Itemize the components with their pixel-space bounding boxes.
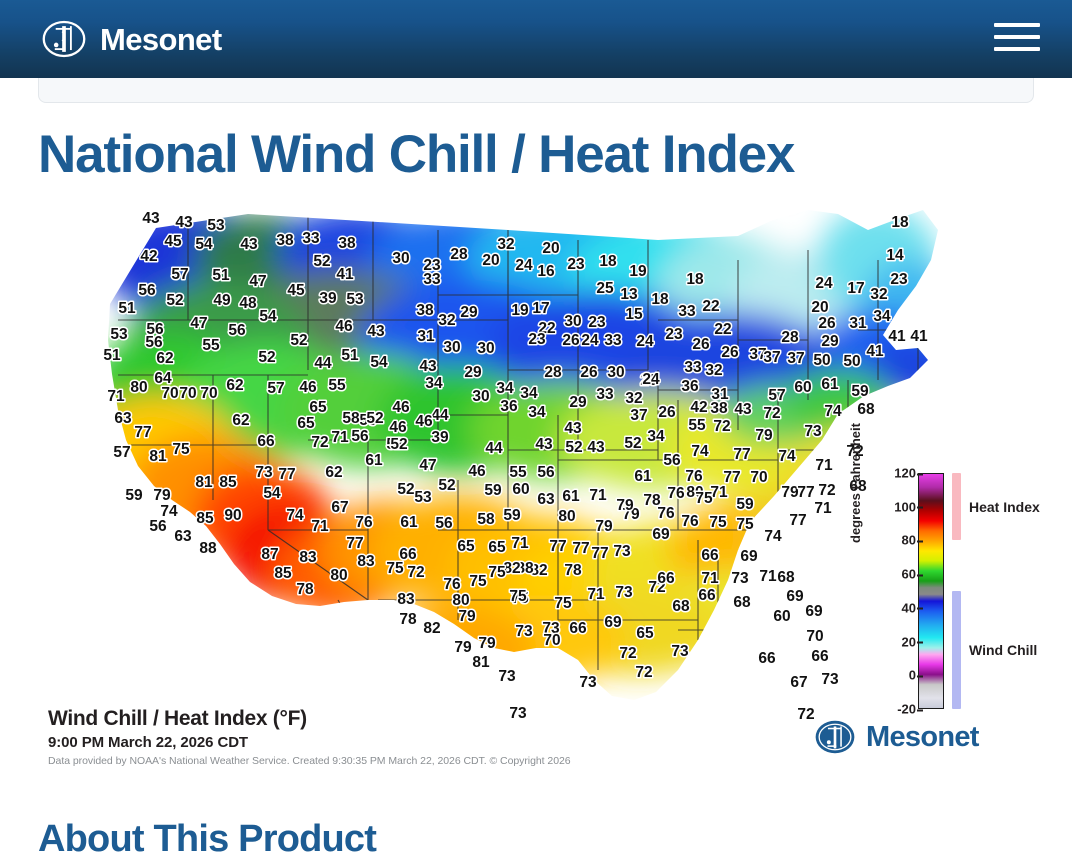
station-value: 62 bbox=[325, 464, 342, 481]
station-value: 24 bbox=[581, 332, 599, 349]
station-value: 23 bbox=[588, 314, 606, 331]
station-value: 79 bbox=[458, 608, 476, 625]
station-value: 30 bbox=[607, 364, 624, 381]
station-value: 37 bbox=[787, 350, 804, 367]
station-value: 74 bbox=[691, 443, 709, 460]
station-value: 69 bbox=[786, 588, 804, 605]
station-value: 46 bbox=[335, 318, 353, 335]
station-value: 41 bbox=[866, 343, 884, 360]
station-value: 54 bbox=[195, 236, 213, 253]
station-value: 33 bbox=[684, 359, 702, 376]
brand-logo[interactable]: Mesonet bbox=[41, 16, 222, 62]
station-value: 72 bbox=[635, 664, 652, 681]
station-value: 15 bbox=[625, 306, 643, 323]
station-value: 73 bbox=[515, 623, 533, 640]
station-value: 24 bbox=[642, 371, 660, 388]
station-value: 63 bbox=[174, 528, 192, 545]
range-bar-wind-chill bbox=[952, 591, 961, 709]
station-value: 18 bbox=[891, 214, 909, 231]
legend-axis-label: degrees Fahrenheit bbox=[848, 423, 863, 543]
station-value: 77 bbox=[346, 535, 363, 552]
station-value: 73 bbox=[498, 668, 516, 685]
station-value: 33 bbox=[423, 271, 441, 288]
station-value: 34 bbox=[425, 375, 443, 392]
station-value: 75 bbox=[695, 490, 713, 507]
station-value: 43 bbox=[419, 358, 437, 375]
site-header: Mesonet bbox=[0, 0, 1072, 78]
station-value: 37 bbox=[763, 349, 780, 366]
wind-chill-heat-index-map[interactable]: 4343534554433833384252413023283320322416… bbox=[38, 200, 1038, 780]
station-value: 36 bbox=[500, 398, 518, 415]
station-value: 52 bbox=[313, 253, 330, 270]
station-value: 56 bbox=[138, 282, 156, 299]
station-value: 58 bbox=[342, 410, 360, 427]
station-value: 75 bbox=[554, 595, 572, 612]
station-value: 66 bbox=[758, 650, 776, 667]
station-value: 65 bbox=[636, 625, 654, 642]
station-value: 29 bbox=[569, 394, 587, 411]
station-value: 70 bbox=[179, 385, 196, 402]
station-value: 75 bbox=[172, 441, 190, 458]
station-value: 81 bbox=[149, 448, 167, 465]
station-value: 90 bbox=[224, 507, 241, 524]
caption-credit: Data provided by NOAA's National Weather… bbox=[48, 755, 688, 767]
station-value: 52 bbox=[390, 436, 407, 453]
station-value: 80 bbox=[558, 508, 575, 525]
watermark-text: Mesonet bbox=[866, 723, 979, 752]
station-value: 19 bbox=[511, 302, 529, 319]
station-value: 71 bbox=[710, 484, 728, 501]
station-value: 88 bbox=[199, 540, 217, 557]
station-value: 71 bbox=[511, 535, 529, 552]
station-value: 76 bbox=[355, 514, 373, 531]
legend-tick-120: 120 bbox=[866, 466, 916, 481]
station-value: 52 bbox=[166, 292, 183, 309]
station-value: 76 bbox=[685, 468, 703, 485]
station-value: 85 bbox=[274, 565, 292, 582]
station-value: 46 bbox=[299, 379, 317, 396]
station-value: 71 bbox=[589, 487, 607, 504]
station-value: 73 bbox=[613, 543, 631, 560]
station-value: 73 bbox=[671, 643, 689, 660]
range-label-heat-index: Heat Index bbox=[969, 499, 1040, 515]
station-value: 34 bbox=[647, 428, 665, 445]
station-value: 83 bbox=[397, 591, 415, 608]
station-value: 69 bbox=[805, 603, 823, 620]
station-value: 43 bbox=[734, 401, 752, 418]
station-value: 77 bbox=[134, 424, 151, 441]
station-value: 46 bbox=[415, 413, 433, 430]
station-value: 77 bbox=[278, 466, 295, 483]
station-value: 24 bbox=[636, 333, 654, 350]
station-value: 72 bbox=[407, 564, 424, 581]
station-value: 77 bbox=[797, 484, 814, 501]
station-value: 74 bbox=[286, 507, 304, 524]
station-value: 31 bbox=[849, 315, 867, 332]
station-value: 34 bbox=[520, 385, 538, 402]
station-value: 79 bbox=[781, 484, 799, 501]
station-value: 55 bbox=[328, 377, 346, 394]
station-value: 28 bbox=[450, 246, 468, 263]
map-caption: Wind Chill / Heat Index (°F) 9:00 PM Mar… bbox=[48, 706, 688, 767]
station-value: 70 bbox=[543, 632, 560, 649]
station-value: 67 bbox=[331, 499, 348, 516]
station-value: 71 bbox=[814, 500, 832, 517]
station-value: 31 bbox=[417, 328, 435, 345]
station-value: 25 bbox=[596, 280, 614, 297]
station-value: 33 bbox=[678, 303, 696, 320]
range-label-wind-chill: Wind Chill bbox=[969, 642, 1037, 658]
station-value: 20 bbox=[811, 299, 828, 316]
station-value: 59 bbox=[484, 482, 502, 499]
station-value: 82 bbox=[423, 620, 440, 637]
legend-tick-80: 80 bbox=[866, 533, 916, 548]
station-value: 24 bbox=[815, 275, 833, 292]
station-value: 70 bbox=[750, 469, 767, 486]
station-value: 53 bbox=[346, 291, 364, 308]
station-value: 77 bbox=[549, 538, 566, 555]
station-value: 20 bbox=[542, 240, 559, 257]
station-value: 80 bbox=[330, 567, 347, 584]
station-value: 43 bbox=[175, 214, 193, 231]
station-value: 82 bbox=[503, 560, 520, 577]
station-value: 33 bbox=[302, 230, 320, 247]
station-value: 65 bbox=[309, 399, 327, 416]
station-value: 77 bbox=[572, 540, 589, 557]
station-value: 63 bbox=[537, 491, 555, 508]
station-value: 54 bbox=[370, 354, 388, 371]
station-value: 46 bbox=[389, 419, 407, 436]
station-value: 51 bbox=[341, 347, 359, 364]
station-value: 60 bbox=[794, 379, 811, 396]
station-value: 65 bbox=[297, 415, 315, 432]
station-value: 26 bbox=[580, 364, 598, 381]
hamburger-bar-1 bbox=[994, 23, 1040, 27]
station-value: 55 bbox=[688, 417, 706, 434]
station-value: 53 bbox=[414, 489, 432, 506]
station-value: 72 bbox=[713, 418, 730, 435]
station-value: 52 bbox=[438, 477, 455, 494]
mesonet-tower-logo-icon bbox=[41, 16, 87, 62]
station-value: 79 bbox=[478, 635, 496, 652]
station-value: 61 bbox=[562, 488, 580, 505]
station-value: 79 bbox=[153, 487, 171, 504]
station-value: 74 bbox=[824, 403, 842, 420]
station-value: 69 bbox=[604, 614, 622, 631]
station-value: 80 bbox=[130, 379, 147, 396]
station-value: 26 bbox=[658, 404, 676, 421]
station-value: 57 bbox=[768, 387, 785, 404]
station-value: 73 bbox=[731, 570, 749, 587]
station-value: 78 bbox=[399, 611, 417, 628]
hamburger-bar-3 bbox=[994, 47, 1040, 51]
station-value: 56 bbox=[149, 518, 167, 535]
station-value: 28 bbox=[544, 364, 562, 381]
station-value: 53 bbox=[207, 217, 225, 234]
station-value: 62 bbox=[156, 350, 173, 367]
station-value: 64 bbox=[154, 370, 172, 387]
station-value: 56 bbox=[228, 322, 246, 339]
brand-name: Mesonet bbox=[100, 24, 222, 55]
station-value: 71 bbox=[311, 518, 329, 535]
station-value: 51 bbox=[212, 267, 230, 284]
station-value: 37 bbox=[630, 407, 647, 424]
station-value: 17 bbox=[847, 280, 864, 297]
station-value: 32 bbox=[438, 312, 455, 329]
station-value: 68 bbox=[777, 569, 795, 586]
hamburger-menu-icon[interactable] bbox=[994, 17, 1040, 57]
station-value: 66 bbox=[399, 546, 417, 563]
station-value: 65 bbox=[457, 538, 475, 555]
station-value: 42 bbox=[690, 399, 707, 416]
station-value: 54 bbox=[263, 485, 281, 502]
station-value: 57 bbox=[267, 380, 284, 397]
station-value: 66 bbox=[701, 547, 719, 564]
station-value: 26 bbox=[721, 344, 739, 361]
station-value: 57 bbox=[113, 444, 130, 461]
station-value: 52 bbox=[624, 435, 641, 452]
station-value: 83 bbox=[357, 553, 375, 570]
station-value: 36 bbox=[681, 378, 699, 395]
legend-tick-20: 20 bbox=[866, 634, 916, 649]
station-value: 38 bbox=[338, 235, 356, 252]
legend-tick-100: 100 bbox=[866, 499, 916, 514]
station-value: 75 bbox=[736, 516, 754, 533]
station-value: 62 bbox=[232, 412, 249, 429]
station-value: 44 bbox=[314, 355, 332, 372]
station-value: 39 bbox=[431, 429, 449, 446]
station-value: 30 bbox=[564, 313, 581, 330]
station-value: 76 bbox=[667, 485, 685, 502]
station-value: 73 bbox=[579, 674, 597, 691]
station-value: 77 bbox=[789, 512, 806, 529]
station-value: 79 bbox=[755, 427, 773, 444]
station-value: 76 bbox=[443, 576, 461, 593]
station-value: 16 bbox=[537, 263, 555, 280]
station-value: 73 bbox=[804, 423, 822, 440]
station-value: 71 bbox=[701, 570, 719, 587]
station-value: 73 bbox=[255, 464, 273, 481]
station-value: 68 bbox=[672, 598, 690, 615]
station-value: 61 bbox=[634, 468, 652, 485]
legend-tick--20: -20 bbox=[866, 702, 916, 717]
legend-tick-60: 60 bbox=[866, 567, 916, 582]
station-value: 79 bbox=[595, 518, 613, 535]
station-value: 47 bbox=[190, 315, 207, 332]
station-value: 43 bbox=[240, 236, 258, 253]
station-value: 56 bbox=[663, 452, 681, 469]
mesonet-tower-logo-icon bbox=[813, 715, 857, 759]
station-value: 61 bbox=[400, 514, 418, 531]
station-value: 45 bbox=[164, 233, 182, 250]
station-value: 28 bbox=[781, 329, 799, 346]
station-value: 47 bbox=[419, 457, 436, 474]
station-value: 23 bbox=[665, 326, 683, 343]
station-value: 72 bbox=[763, 405, 780, 422]
station-value: 51 bbox=[103, 347, 121, 364]
station-value: 26 bbox=[818, 315, 836, 332]
station-value: 59 bbox=[851, 383, 869, 400]
station-value: 51 bbox=[118, 300, 136, 317]
station-value: 68 bbox=[733, 594, 751, 611]
station-value: 50 bbox=[813, 352, 830, 369]
station-value: 67 bbox=[790, 674, 807, 691]
station-value: 49 bbox=[213, 292, 231, 309]
station-value: 30 bbox=[477, 340, 494, 357]
station-value: 22 bbox=[702, 298, 719, 315]
station-value: 78 bbox=[643, 492, 661, 509]
station-value: 46 bbox=[392, 399, 410, 416]
station-value: 57 bbox=[171, 266, 188, 283]
station-value: 38 bbox=[710, 400, 728, 417]
station-value: 55 bbox=[202, 337, 220, 354]
station-value: 56 bbox=[435, 515, 453, 532]
station-value: 19 bbox=[629, 263, 647, 280]
station-value: 77 bbox=[591, 545, 608, 562]
station-value: 66 bbox=[811, 648, 829, 665]
station-value: 71 bbox=[331, 429, 349, 446]
range-bar-heat-index bbox=[952, 473, 961, 540]
station-value: 29 bbox=[460, 304, 478, 321]
station-value: 79 bbox=[616, 497, 634, 514]
station-value: 33 bbox=[596, 386, 614, 403]
station-value: 26 bbox=[692, 336, 710, 353]
station-value: 29 bbox=[821, 333, 839, 350]
legend: degrees Fahrenheit 120100806040200-20 He… bbox=[866, 465, 1041, 725]
station-value: 14 bbox=[886, 247, 904, 264]
station-value: 75 bbox=[488, 564, 506, 581]
next-section-heading: About This Product bbox=[38, 818, 376, 861]
hamburger-bar-2 bbox=[994, 35, 1040, 39]
station-value: 59 bbox=[736, 496, 754, 513]
station-value: 71 bbox=[815, 457, 833, 474]
station-value: 80 bbox=[452, 592, 469, 609]
station-value: 65 bbox=[488, 539, 506, 556]
station-value: 34 bbox=[496, 380, 514, 397]
station-value: 52 bbox=[290, 332, 307, 349]
station-value: 30 bbox=[443, 339, 460, 356]
station-value: 53 bbox=[110, 326, 128, 343]
station-value: 68 bbox=[857, 401, 875, 418]
station-value: 30 bbox=[392, 250, 409, 267]
station-value: 39 bbox=[319, 290, 337, 307]
station-value: 81 bbox=[195, 474, 213, 491]
station-value: 70 bbox=[161, 385, 178, 402]
station-value: 75 bbox=[469, 573, 487, 590]
station-value: 32 bbox=[625, 390, 642, 407]
station-value: 32 bbox=[705, 362, 722, 379]
station-value: 59 bbox=[503, 507, 521, 524]
station-value: 18 bbox=[686, 271, 704, 288]
station-value: 52 bbox=[565, 439, 582, 456]
station-value: 30 bbox=[472, 388, 489, 405]
station-value: 72 bbox=[619, 645, 636, 662]
station-value: 32 bbox=[870, 286, 887, 303]
station-value: 77 bbox=[733, 446, 750, 463]
station-value: 43 bbox=[535, 436, 553, 453]
caption-timestamp: 9:00 PM March 22, 2026 CDT bbox=[48, 734, 688, 751]
station-value: 81 bbox=[472, 654, 490, 671]
station-value: 38 bbox=[416, 302, 434, 319]
station-value: 69 bbox=[652, 526, 670, 543]
station-value: 69 bbox=[740, 548, 758, 565]
station-value: 56 bbox=[145, 334, 163, 351]
station-value: 78 bbox=[296, 581, 314, 598]
station-value: 29 bbox=[464, 364, 482, 381]
station-value: 59 bbox=[125, 487, 143, 504]
station-value: 60 bbox=[773, 608, 790, 625]
station-value: 41 bbox=[336, 266, 354, 283]
station-value: 32 bbox=[497, 236, 514, 253]
station-value: 60 bbox=[512, 481, 529, 498]
station-value: 72 bbox=[818, 482, 835, 499]
station-value: 34 bbox=[873, 308, 891, 325]
station-value: 48 bbox=[239, 295, 257, 312]
station-value: 43 bbox=[367, 323, 385, 340]
station-value: 73 bbox=[821, 671, 839, 688]
station-value: 18 bbox=[599, 253, 617, 270]
station-value: 79 bbox=[454, 639, 472, 656]
station-value: 66 bbox=[569, 620, 587, 637]
station-value: 52 bbox=[397, 481, 414, 498]
breadcrumb-card bbox=[38, 78, 1034, 103]
station-value: 73 bbox=[615, 584, 633, 601]
station-value: 43 bbox=[587, 439, 605, 456]
page-title: National Wind Chill / Heat Index bbox=[38, 125, 1038, 186]
station-value: 56 bbox=[351, 428, 369, 445]
station-value: 54 bbox=[259, 308, 277, 325]
station-value: 46 bbox=[468, 463, 486, 480]
station-value: 43 bbox=[142, 210, 160, 227]
station-value: 66 bbox=[657, 570, 675, 587]
legend-tick-40: 40 bbox=[866, 600, 916, 615]
station-value: 78 bbox=[564, 562, 582, 579]
station-value: 76 bbox=[681, 513, 699, 530]
station-value: 66 bbox=[698, 587, 716, 604]
station-value: 44 bbox=[485, 440, 503, 457]
station-value: 61 bbox=[821, 376, 839, 393]
station-value: 47 bbox=[249, 273, 266, 290]
station-value: 26 bbox=[562, 332, 580, 349]
station-value: 85 bbox=[196, 510, 214, 527]
station-value: 52 bbox=[258, 349, 275, 366]
station-value: 58 bbox=[477, 511, 495, 528]
station-value: 62 bbox=[226, 377, 243, 394]
station-value: 61 bbox=[365, 452, 383, 469]
station-value: 63 bbox=[114, 410, 132, 427]
station-value: 50 bbox=[843, 353, 860, 370]
station-value: 75 bbox=[509, 588, 527, 605]
station-value: 23 bbox=[567, 256, 585, 273]
station-value: 44 bbox=[431, 407, 449, 424]
station-value: 71 bbox=[759, 568, 777, 585]
station-value: 18 bbox=[651, 291, 669, 308]
legend-tick-0: 0 bbox=[866, 668, 916, 683]
station-value: 22 bbox=[714, 321, 731, 338]
station-value: 23 bbox=[890, 271, 908, 288]
legend-tick-labels: 120100806040200-20 bbox=[866, 465, 916, 717]
station-value: 41 bbox=[888, 328, 906, 345]
station-value: 70 bbox=[200, 385, 217, 402]
station-value: 34 bbox=[528, 404, 546, 421]
station-value: 83 bbox=[299, 549, 317, 566]
station-value: 71 bbox=[107, 388, 125, 405]
station-value: 66 bbox=[257, 433, 275, 450]
station-value: 74 bbox=[778, 448, 796, 465]
station-value: 75 bbox=[709, 514, 727, 531]
station-value: 72 bbox=[311, 434, 328, 451]
station-value: 43 bbox=[564, 420, 582, 437]
